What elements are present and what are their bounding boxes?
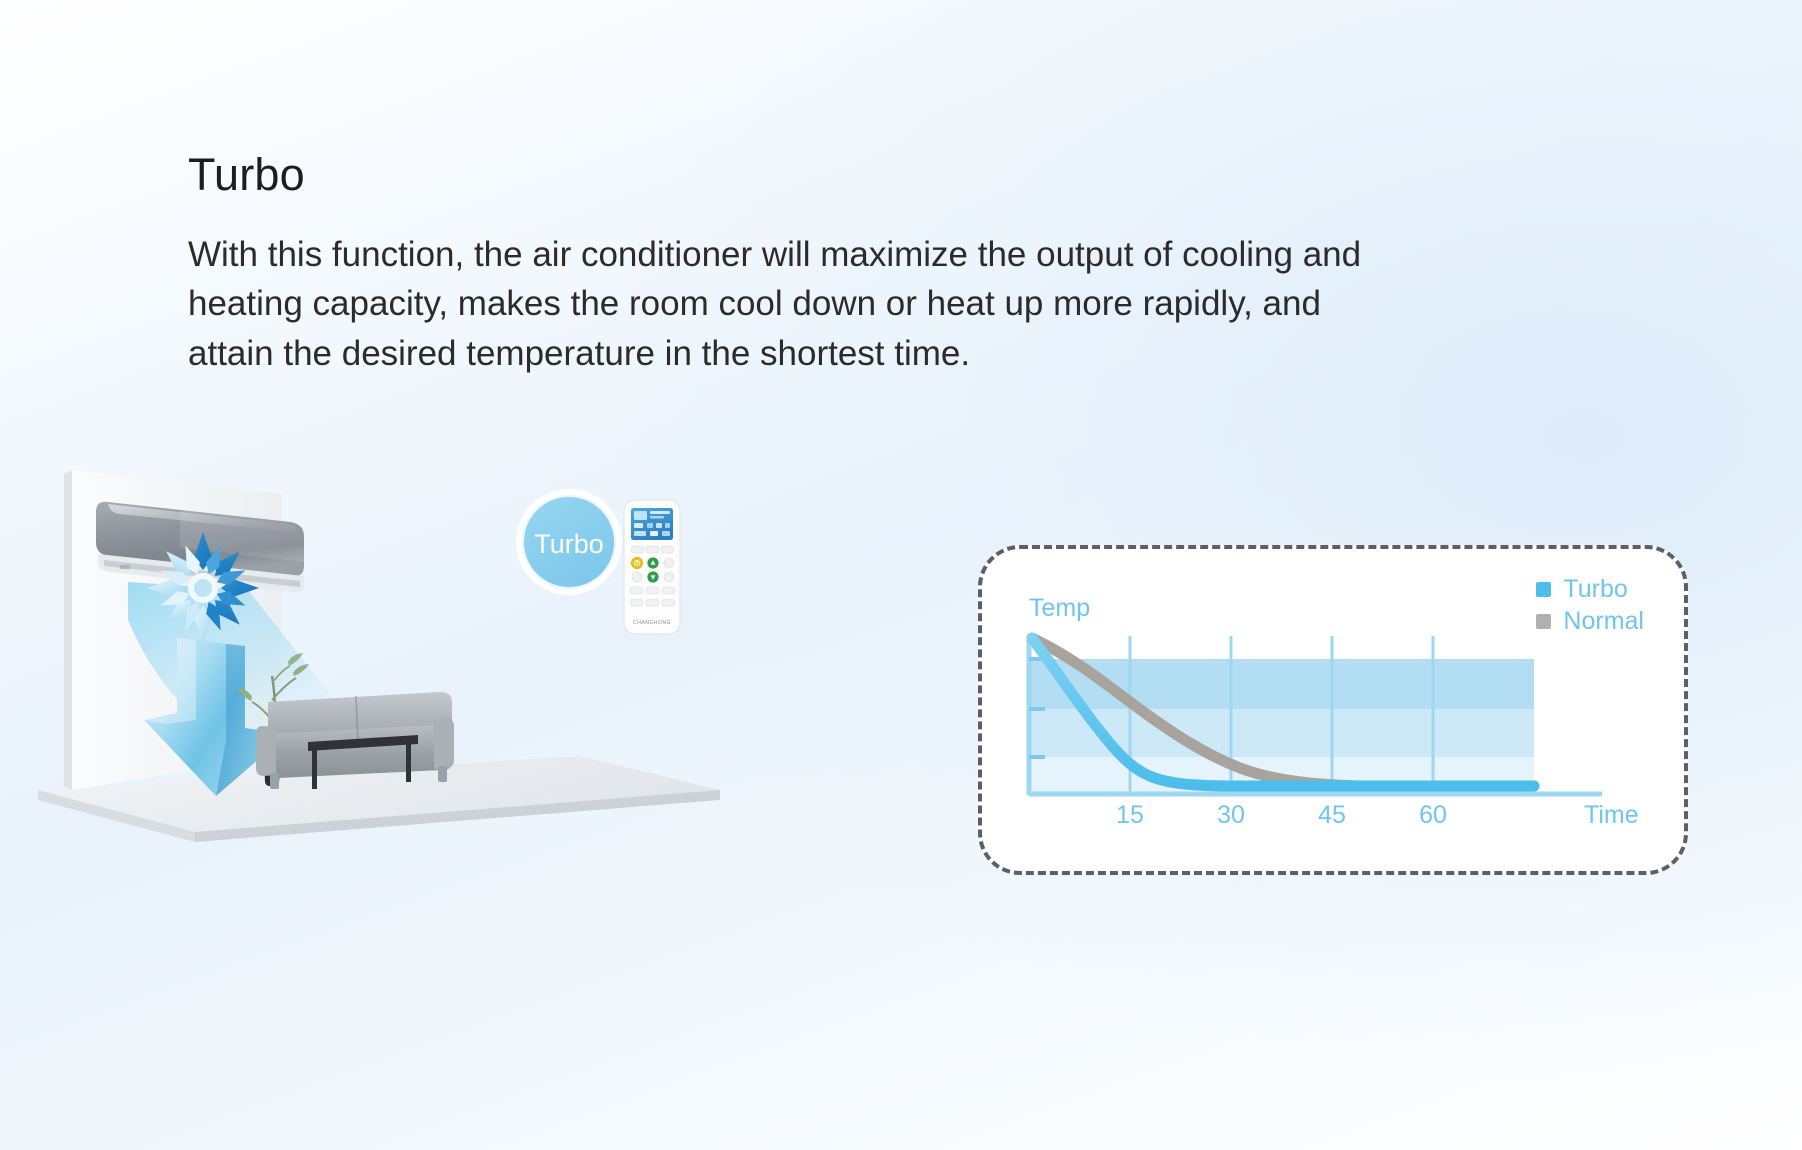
x-tick-label-45: 45	[1318, 803, 1346, 828]
slide-root: Turbo With this function, the air condit…	[0, 0, 1802, 1150]
room-illustration: Turbo	[20, 470, 840, 870]
chart-legend: Turbo Normal	[1536, 577, 1644, 634]
x-tick-label-30: 30	[1217, 803, 1245, 828]
legend-label-normal: Normal	[1563, 609, 1644, 634]
remote-control-icon: CHANGHONG	[624, 500, 680, 634]
performance-chart-card: Temp Time 15 30 45 60 Turbo Normal	[978, 545, 1688, 875]
legend-swatch-turbo	[1536, 582, 1551, 597]
remote-brand-label: CHANGHONG	[633, 620, 671, 626]
legend-item-normal: Normal	[1536, 609, 1644, 634]
legend-item-turbo: Turbo	[1536, 577, 1644, 602]
legend-swatch-normal	[1536, 614, 1551, 629]
x-tick-label-60: 60	[1419, 803, 1447, 828]
turbo-badge-label: Turbo	[534, 529, 604, 559]
feature-description: With this function, the air conditioner …	[188, 230, 1378, 379]
page-title: Turbo	[188, 150, 1418, 200]
legend-label-turbo: Turbo	[1563, 577, 1627, 602]
y-axis-title: Temp	[1029, 596, 1090, 621]
turbo-badge: Turbo	[519, 492, 619, 592]
feature-text-block: Turbo With this function, the air condit…	[188, 150, 1418, 379]
x-tick-label-15: 15	[1116, 803, 1144, 828]
x-axis-title: Time	[1584, 803, 1639, 828]
chart-plot-area: Temp Time 15 30 45 60 Turbo Normal	[982, 549, 1684, 871]
